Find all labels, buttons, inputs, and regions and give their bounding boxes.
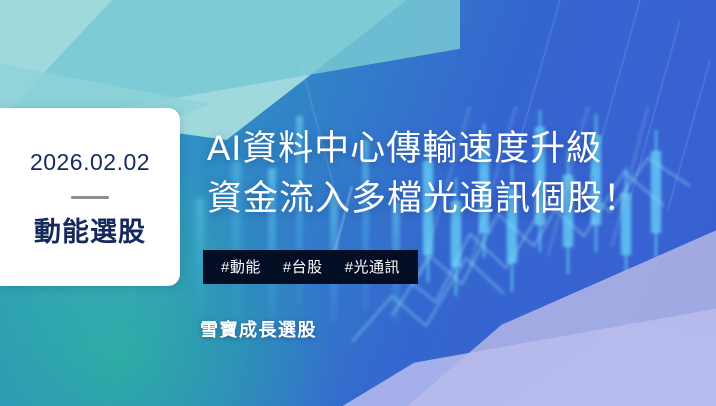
tag-bar: #動能 #台股 #光通訊 bbox=[203, 250, 418, 284]
tag-momentum[interactable]: #動能 bbox=[221, 260, 261, 275]
date-card: 2026.02.02 動能選股 bbox=[0, 108, 180, 286]
headline: AI資料中心傳輸速度升級 資金流入多檔光通訊個股！ bbox=[207, 124, 639, 223]
brand-name: 雪寶成長選股 bbox=[200, 316, 317, 342]
strategy-label: 動能選股 bbox=[34, 219, 146, 246]
tag-tw-stocks[interactable]: #台股 bbox=[283, 260, 323, 275]
tag-optical-comm[interactable]: #光通訊 bbox=[345, 260, 400, 275]
headline-line-1: AI資料中心傳輸速度升級 bbox=[207, 124, 639, 174]
promo-banner: 2026.02.02 動能選股 AI資料中心傳輸速度升級 資金流入多檔光通訊個股… bbox=[0, 0, 716, 406]
headline-line-2: 資金流入多檔光通訊個股！ bbox=[207, 174, 639, 224]
date-text: 2026.02.02 bbox=[30, 151, 150, 174]
date-divider bbox=[71, 196, 109, 199]
